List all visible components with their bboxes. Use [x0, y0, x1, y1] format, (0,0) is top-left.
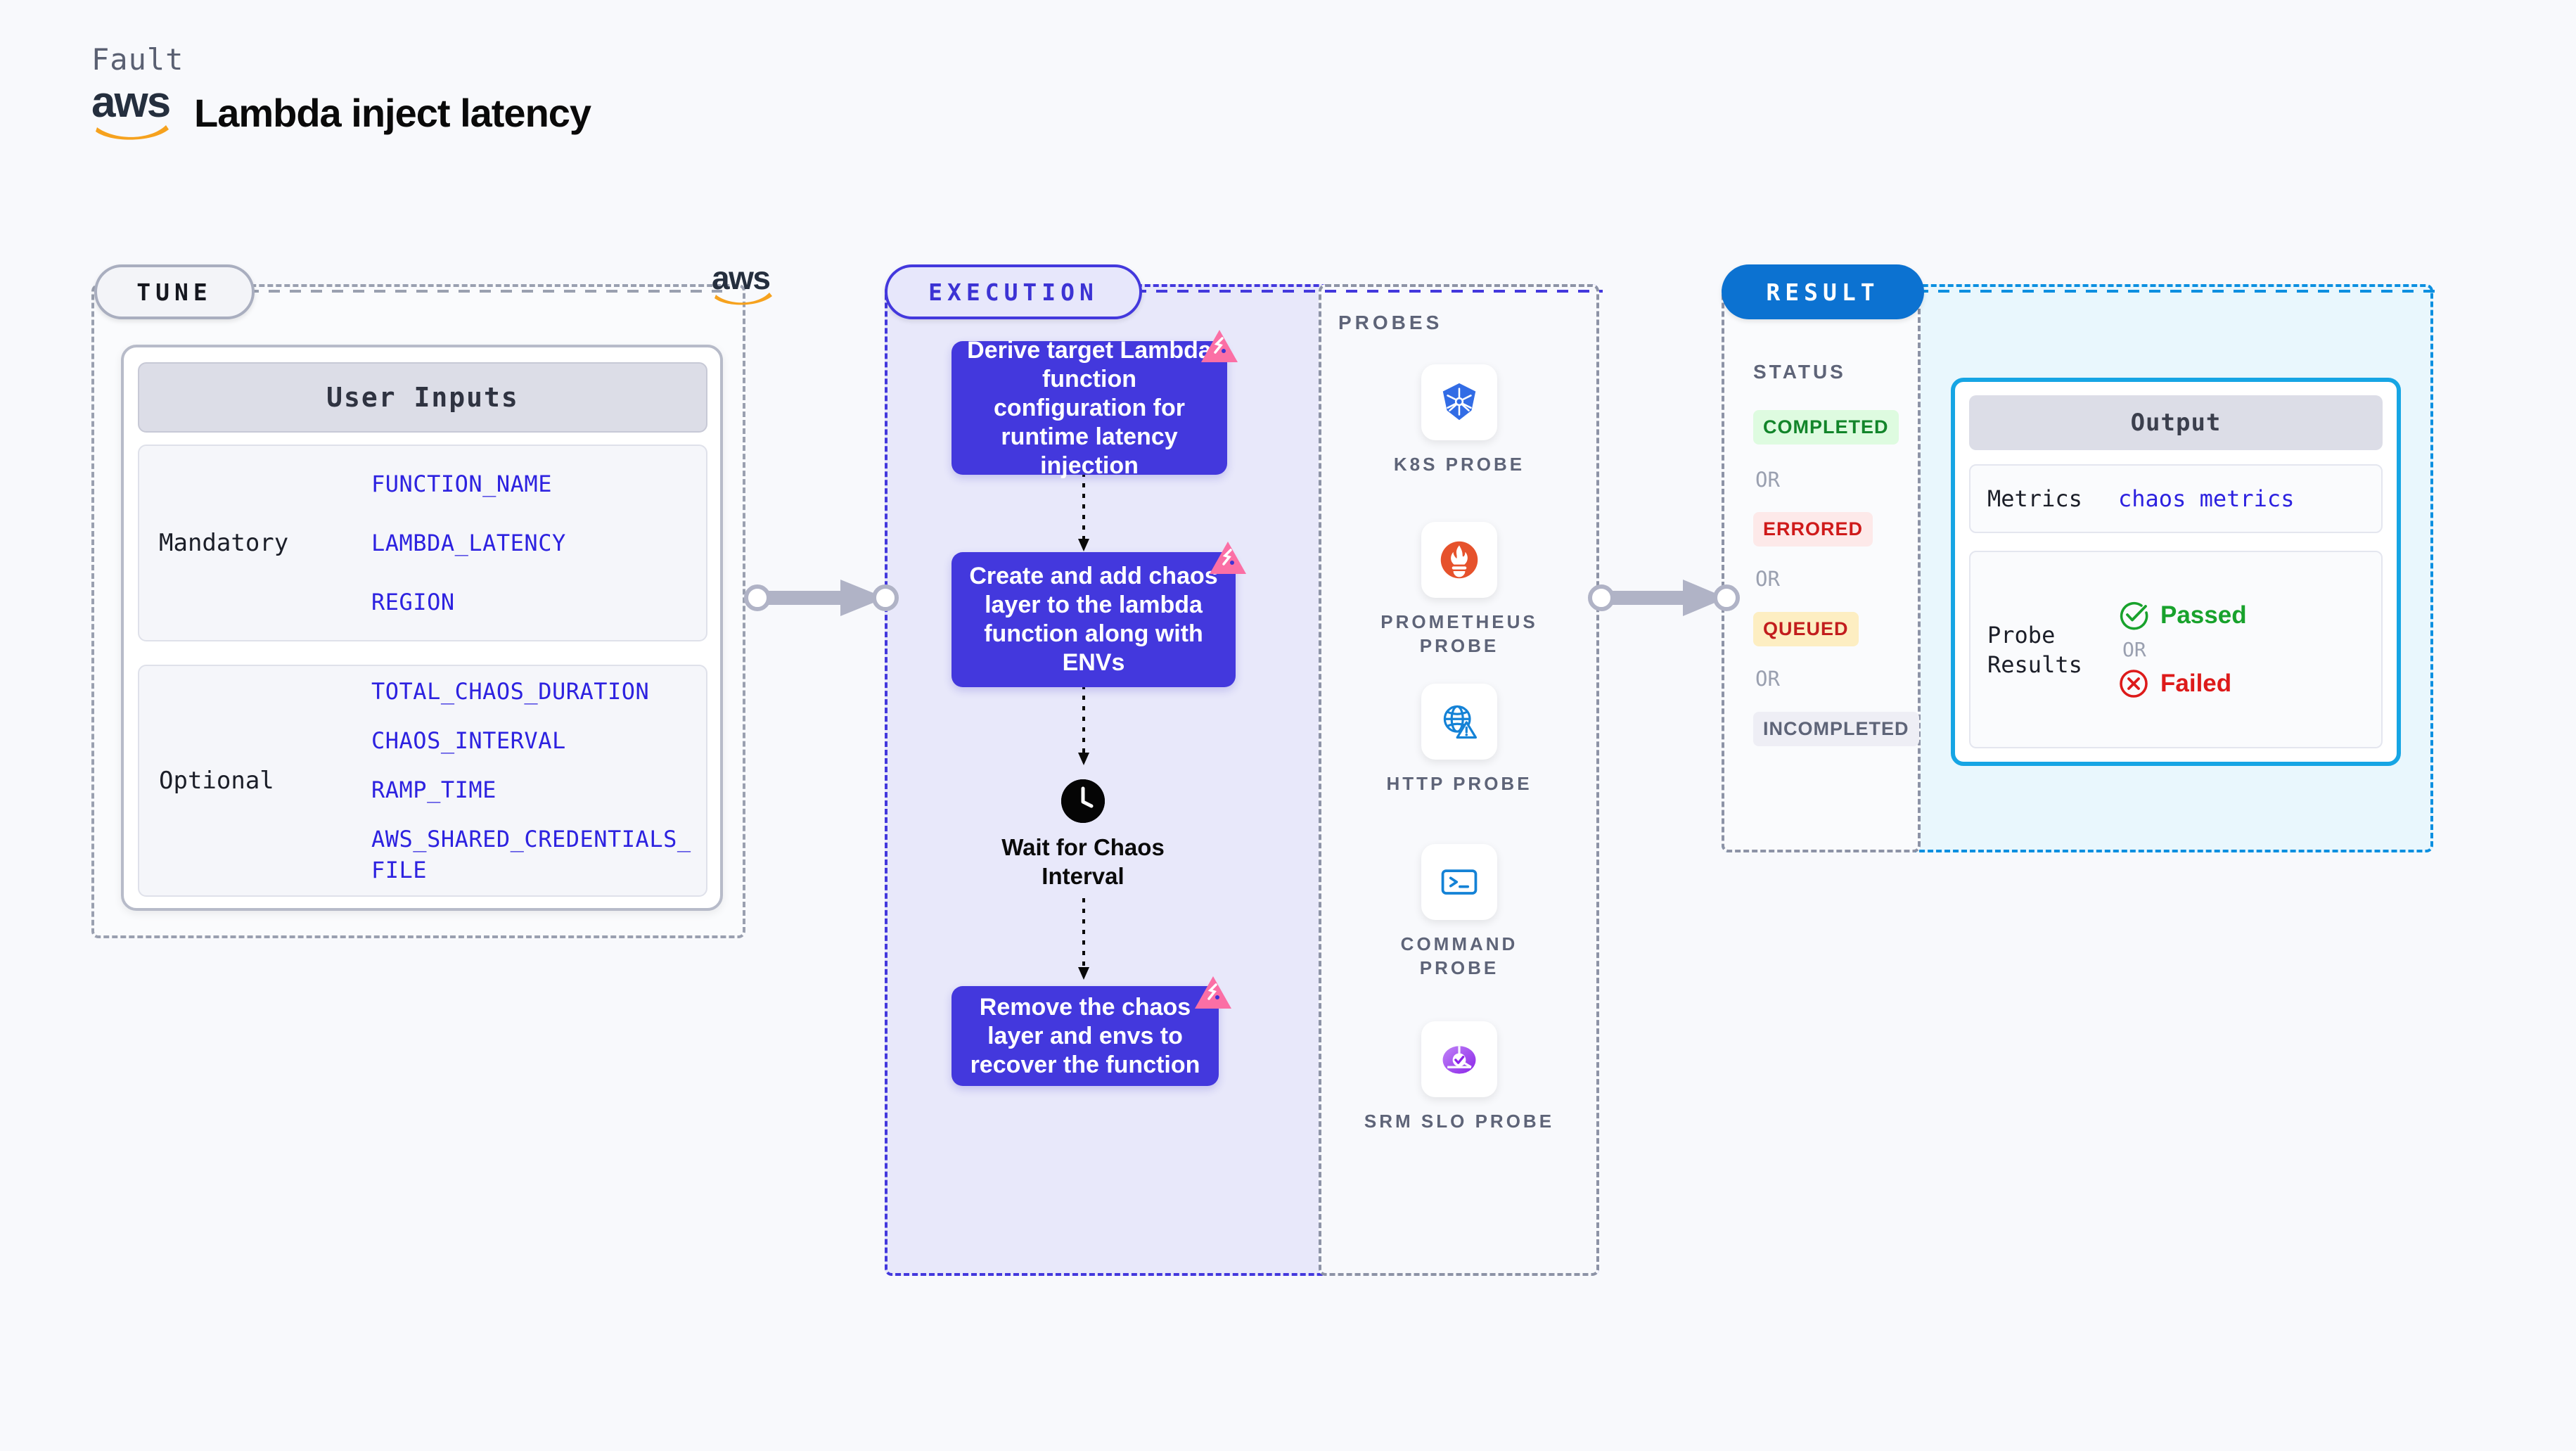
- terminal-icon: [1438, 861, 1480, 903]
- metrics-value-link[interactable]: chaos metrics: [2118, 485, 2294, 512]
- flow-arrow-icon: [1075, 898, 1092, 983]
- status-badge-completed: COMPLETED: [1753, 410, 1899, 445]
- probe-result-or-label: OR: [2118, 638, 2247, 661]
- execution-badge: EXECUTION: [885, 264, 1142, 319]
- env-var[interactable]: TOTAL_CHAOS_DURATION: [371, 676, 691, 707]
- probe-result-failed: Failed: [2118, 668, 2247, 699]
- probe-tile: [1421, 364, 1497, 440]
- status-or-label: OR: [1755, 667, 1780, 691]
- probe-label: SRM SLO PROBE: [1357, 1109, 1561, 1133]
- probe-item-http[interactable]: HTTP PROBE: [1357, 684, 1561, 795]
- flow-arrow-icon: [1075, 473, 1092, 554]
- env-var[interactable]: REGION: [371, 589, 566, 615]
- page-title: Lambda inject latency: [194, 90, 591, 136]
- probe-tile: [1421, 522, 1497, 598]
- result-connector-dash: [1917, 290, 2437, 293]
- title-row: aws Lambda inject latency: [91, 81, 591, 144]
- probe-item-command[interactable]: COMMAND PROBE: [1357, 844, 1561, 980]
- result-badge: RESULT: [1722, 264, 1924, 319]
- env-var[interactable]: FUNCTION_NAME: [371, 471, 566, 497]
- failed-label: Failed: [2160, 670, 2231, 698]
- execution-step: Derive target Lambda function configurat…: [951, 341, 1227, 475]
- optional-inputs-group: Optional TOTAL_CHAOS_DURATION CHAOS_INTE…: [138, 665, 707, 897]
- env-var[interactable]: AWS_SHARED_CREDENTIALS_ FILE: [371, 824, 691, 886]
- probes-title: PROBES: [1338, 312, 1442, 334]
- probe-results-values: Passed OR Failed: [2118, 600, 2247, 699]
- aws-small-smile-icon: [715, 290, 774, 308]
- user-inputs-title: User Inputs: [138, 362, 707, 433]
- probe-results-key-label: Probe Results: [1971, 620, 2118, 679]
- probe-item-k8s[interactable]: K8S PROBE: [1357, 364, 1561, 476]
- flow-arrow-icon: [1075, 685, 1092, 768]
- srm-slo-icon: [1438, 1038, 1480, 1080]
- connector-tune-to-execution: [742, 570, 904, 626]
- probe-label: COMMAND PROBE: [1357, 932, 1561, 980]
- probe-tile: [1421, 1021, 1497, 1097]
- status-badge-queued: QUEUED: [1753, 612, 1859, 646]
- litmus-badge-icon: [1208, 540, 1248, 577]
- metrics-key-label: Metrics: [1971, 484, 2118, 513]
- status-title: STATUS: [1753, 361, 1846, 383]
- status-or-label: OR: [1755, 567, 1780, 591]
- aws-small-logo-icon: aws: [712, 262, 789, 318]
- tune-connector-dash: [248, 290, 722, 293]
- env-var[interactable]: CHAOS_INTERVAL: [371, 725, 691, 756]
- mandatory-inputs-group: Mandatory FUNCTION_NAME LAMBDA_LATENCY R…: [138, 445, 707, 641]
- execution-step: Remove the chaos layer and envs to recov…: [951, 986, 1219, 1086]
- kubernetes-icon: [1437, 381, 1481, 424]
- probe-result-passed: Passed: [2118, 600, 2247, 631]
- execution-step: Create and add chaos layer to the lambda…: [951, 552, 1236, 687]
- status-or-label: OR: [1755, 468, 1780, 492]
- litmus-badge-icon: [1200, 328, 1239, 365]
- clock-icon: [1061, 779, 1105, 823]
- page-header: Fault aws Lambda inject latency: [91, 42, 591, 144]
- execution-connector-dash: [1135, 290, 1603, 293]
- aws-smile-icon: [96, 122, 172, 143]
- status-badge-errored: ERRORED: [1753, 512, 1873, 546]
- probe-tile: [1421, 844, 1497, 920]
- probe-item-srm-slo[interactable]: SRM SLO PROBE: [1357, 1021, 1561, 1133]
- probe-label: PROMETHEUS PROBE: [1357, 610, 1561, 658]
- probe-label: K8S PROBE: [1357, 452, 1561, 476]
- wait-node-label: Wait for Chaos Interval: [978, 833, 1188, 890]
- fault-kind-label: Fault: [91, 42, 591, 77]
- probe-item-prometheus[interactable]: PROMETHEUS PROBE: [1357, 522, 1561, 658]
- probe-tile: [1421, 684, 1497, 760]
- optional-var-list: TOTAL_CHAOS_DURATION CHAOS_INTERVAL RAMP…: [371, 667, 691, 895]
- output-title: Output: [1969, 395, 2383, 450]
- prometheus-icon: [1438, 539, 1480, 581]
- status-badge-incompleted: INCOMPLETED: [1753, 712, 1919, 746]
- wait-for-chaos-interval-node: Wait for Chaos Interval: [978, 779, 1188, 890]
- probe-label: HTTP PROBE: [1357, 772, 1561, 795]
- output-probe-results-row: Probe Results Passed OR Failed: [1969, 551, 2383, 748]
- mandatory-label: Mandatory: [139, 529, 371, 557]
- output-metrics-row: Metrics chaos metrics: [1969, 464, 2383, 533]
- aws-logo-icon: aws: [91, 81, 176, 144]
- tune-badge: TUNE: [94, 264, 255, 319]
- fault-diagram-page: Fault aws Lambda inject latency TUNE aws…: [0, 0, 2576, 1451]
- env-var[interactable]: LAMBDA_LATENCY: [371, 530, 566, 556]
- http-globe-icon: [1438, 701, 1480, 743]
- env-var[interactable]: RAMP_TIME: [371, 774, 691, 805]
- connector-execution-to-result: [1586, 570, 1744, 626]
- mandatory-var-list: FUNCTION_NAME LAMBDA_LATENCY REGION: [371, 454, 566, 632]
- passed-label: Passed: [2160, 601, 2247, 629]
- litmus-badge-icon: [1193, 975, 1233, 1011]
- optional-label: Optional: [139, 767, 371, 795]
- check-circle-icon: [2118, 600, 2149, 631]
- x-circle-icon: [2118, 668, 2149, 699]
